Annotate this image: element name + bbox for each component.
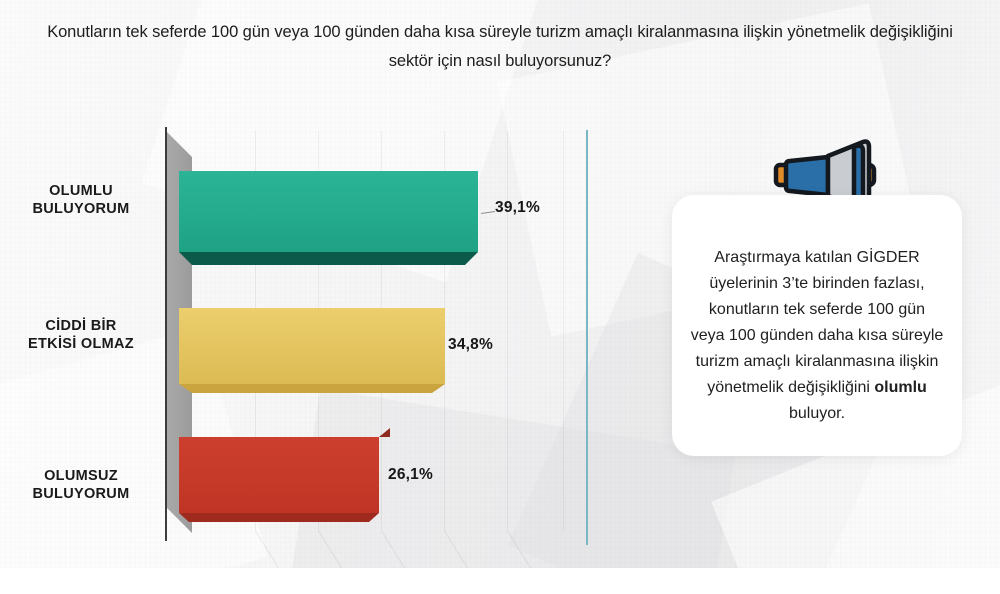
category-label-line1: OLUMLU — [6, 182, 156, 200]
category-label-line1: OLUMSUZ — [6, 467, 156, 485]
bar-olumlu-buluyorum[interactable] — [179, 171, 478, 252]
floor-gridline — [444, 531, 470, 572]
value-label-olumsuz-buluyorum: 26,1% — [388, 466, 433, 484]
category-label-line2: BULUYORUM — [6, 200, 156, 218]
category-label-olumsuz-buluyorum: OLUMSUZ BULUYORUM — [6, 467, 156, 503]
value-label-ciddi-bir-etkisi-olmaz: 34,8% — [448, 336, 493, 354]
floor-gridline — [381, 531, 407, 572]
floor-gridline — [507, 531, 533, 572]
category-label-ciddi-bir-etkisi-olmaz: CİDDİ BİR ETKİSİ OLMAZ — [6, 317, 156, 353]
callout-text-before: Araştırmaya katılan GİGDER üyelerinin 3’… — [691, 249, 944, 396]
vertical-gridline — [563, 131, 564, 531]
bar-depth — [179, 384, 445, 393]
slide-root: Konutların tek seferde 100 gün veya 100 … — [0, 0, 1000, 594]
chart-axis-line — [165, 127, 167, 541]
bar-olumsuz-buluyorum[interactable] — [179, 437, 379, 513]
category-label-olumlu-buluyorum: OLUMLU BULUYORUM — [6, 182, 156, 218]
section-divider — [586, 130, 588, 545]
callout-bold-word: olumlu — [874, 379, 926, 396]
floor-gridline — [318, 531, 344, 572]
value-label-olumlu-buluyorum: 39,1% — [495, 199, 540, 217]
category-label-line2: BULUYORUM — [6, 485, 156, 503]
bar-depth — [179, 513, 379, 522]
category-label-line1: CİDDİ BİR — [6, 317, 156, 335]
bar-chart: OLUMLU BULUYORUM CİDDİ BİR ETKİSİ OLMAZ … — [0, 0, 600, 568]
bar-face — [179, 171, 478, 252]
bar-depth — [179, 252, 478, 265]
bar-face — [179, 308, 445, 384]
floor-gridline — [255, 531, 281, 572]
category-label-line2: ETKİSİ OLMAZ — [6, 335, 156, 353]
bar-ciddi-bir-etkisi-olmaz[interactable] — [179, 308, 445, 384]
vertical-gridline — [507, 131, 508, 531]
callout-text: Araştırmaya katılan GİGDER üyelerinin 3’… — [690, 245, 944, 427]
callout-text-after: buluyor. — [789, 405, 845, 422]
bottom-band — [0, 568, 1000, 594]
bar-face — [179, 437, 379, 513]
callout-card: Araştırmaya katılan GİGDER üyelerinin 3’… — [672, 195, 962, 456]
